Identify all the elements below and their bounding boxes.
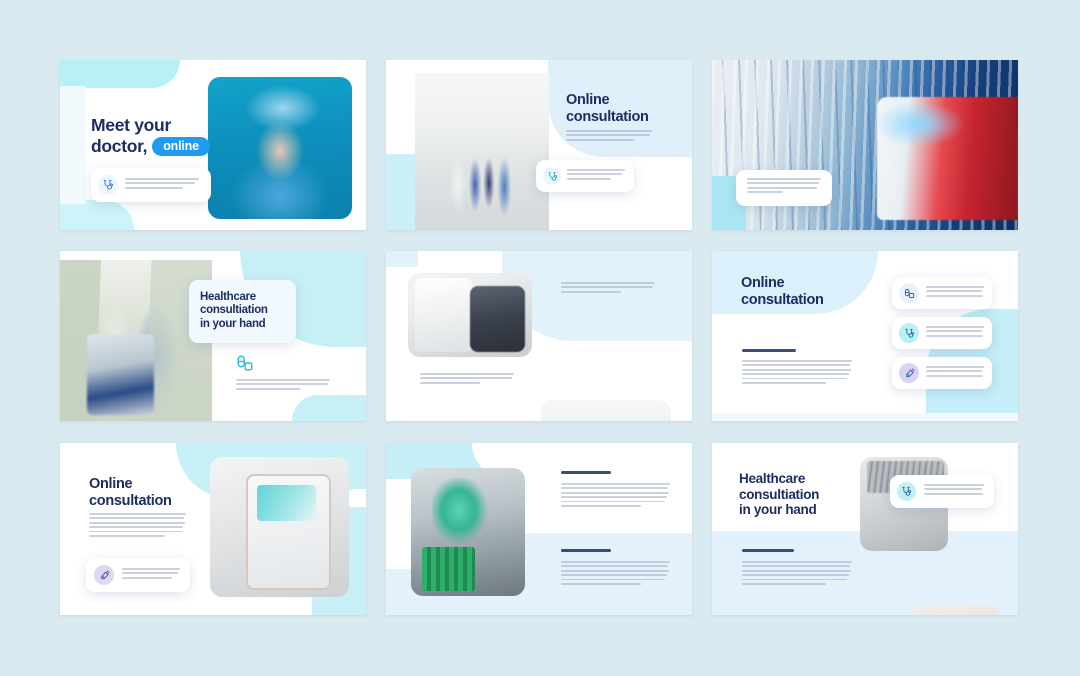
title-line-2: doctor, [91, 136, 147, 156]
feature-card-3[interactable]: Duis dignissim non mi vitae commodo. Sus… [892, 357, 992, 389]
slide-deck-grid: Meet your doctor, online Duis dignissim … [0, 0, 1080, 676]
hospital-room-photo [910, 605, 1000, 615]
lab-pipette-photo [411, 468, 525, 596]
syringe-icon [94, 565, 114, 585]
title-line-3: in your hand [200, 318, 268, 331]
slide-2-online-consultation[interactable]: Online consultation Duis dignissim non m… [386, 60, 692, 230]
title-line-1: Healthcare [200, 291, 268, 304]
decor-cyan-blob-bottom [292, 395, 366, 421]
slide-7-online-consultation-tablet[interactable]: Online consultation Duis dignissim non m… [60, 443, 366, 615]
slide-1-heading: Meet your doctor, online [91, 115, 209, 157]
title-line-1: Online [741, 275, 861, 292]
slide-8-subtitle-bottom [561, 549, 611, 555]
slide-9-subtitle [742, 549, 794, 555]
stethoscope-icon [897, 482, 916, 501]
slide-6-body [742, 360, 852, 386]
hospital-reception-photo [541, 400, 671, 421]
slide-6-heading: Online consultation [741, 275, 861, 309]
title-line-3: in your hand [739, 502, 859, 518]
slide-2-heading: Online consultation [566, 92, 676, 126]
slide-2-body [566, 130, 652, 143]
doctor-tablet-photo [408, 273, 532, 357]
slide-5-body-top [561, 282, 655, 295]
title-line-2: consultiation [200, 304, 268, 317]
feature-card-1-text [926, 286, 986, 299]
callout-text [122, 568, 182, 581]
title-line-1: Meet your [91, 115, 209, 135]
slide-7-callout-card[interactable]: Duis dignissim non mi vitae commodo. Sus… [86, 558, 190, 592]
feature-card-1[interactable]: Duis dignissim non mi vitae commodo. Sus… [892, 277, 992, 309]
slide-7-body [89, 513, 186, 539]
decor-cyan-corner [60, 60, 180, 88]
slide-6-subtitle [742, 349, 796, 355]
slide-4-healthcare-in-your-hand[interactable]: Healthcare consultiation in your hand Du… [60, 251, 366, 421]
slide-8-subtitle-top [561, 471, 611, 477]
slide-1-meet-your-doctor[interactable]: Meet your doctor, online Duis dignissim … [60, 60, 366, 230]
stethoscope-icon [899, 323, 919, 343]
slide-8-lab-two-subtitles[interactable]: Your subtitle goes here Duis dignissim n… [386, 443, 692, 615]
slide-4-body [236, 379, 330, 392]
slide-4-title-card[interactable]: Healthcare consultiation in your hand [189, 280, 296, 343]
callout-text [924, 484, 986, 497]
slide-2-callout-card[interactable]: Duis dignissim non mi vitae commodo. Sus… [536, 160, 634, 192]
slide-9-healthcare-hand-collage[interactable]: Healthcare consultiation in your hand Yo… [712, 443, 1018, 615]
callout-text [567, 169, 627, 182]
title-line-2: consultiation [739, 487, 859, 503]
slide-9-callout-card[interactable]: Duis dignissim non mi vitae commodo. Sus… [890, 475, 994, 508]
syringe-icon [899, 363, 919, 383]
title-line-2: consultation [566, 109, 676, 126]
slide-8-body-bottom [561, 561, 670, 587]
pills-icon [236, 354, 254, 372]
slide-1-callout-card[interactable]: Duis dignissim non mi vitae commodo. Sus… [91, 168, 211, 202]
slide-9-heading: Healthcare consultiation in your hand [739, 471, 859, 518]
stethoscope-icon [98, 175, 118, 195]
medical-team-photo [415, 73, 549, 230]
title-line-2: consultation [741, 292, 861, 309]
title-line-1: Online [566, 92, 676, 109]
title-line-1: Online [89, 476, 209, 493]
callout-text [125, 178, 201, 191]
slide-9-body [742, 561, 852, 587]
decor-pale-left [386, 251, 418, 267]
slide-7-heading: Online consultation [89, 476, 209, 510]
slide-5-body-bottom [420, 373, 514, 386]
decor-pale-left [60, 86, 86, 204]
stethoscope-icon [543, 167, 561, 185]
callout-text [747, 178, 823, 196]
feature-card-2-text [926, 326, 986, 339]
feature-card-2[interactable]: Duis dignissim non mi vitae commodo. Sus… [892, 317, 992, 349]
online-badge[interactable]: online [152, 137, 210, 156]
decor-cyan-bottom [60, 200, 134, 230]
slide-5-two-photo-text[interactable]: Duis dignissim non mi vitae commodo. Sus… [386, 251, 692, 421]
pills-icon [899, 283, 919, 303]
decor-pale-bottom [712, 413, 1018, 421]
feature-card-3-text [926, 366, 986, 379]
title-line-2: consultation [89, 493, 209, 510]
slide-6-online-consultation-features[interactable]: Online consultation Your subtitle goes h… [712, 251, 1018, 421]
slide-8-body-top [561, 483, 670, 509]
slide-3-callout-card[interactable]: Duis dignissim non mi vitae commodo. Sus… [736, 170, 832, 206]
doctor-photo [208, 77, 352, 219]
hands-tablet-photo [210, 457, 349, 597]
title-line-1: Healthcare [739, 471, 859, 487]
slide-3-ambulance[interactable]: Duis dignissim non mi vitae commodo. Sus… [712, 60, 1018, 230]
